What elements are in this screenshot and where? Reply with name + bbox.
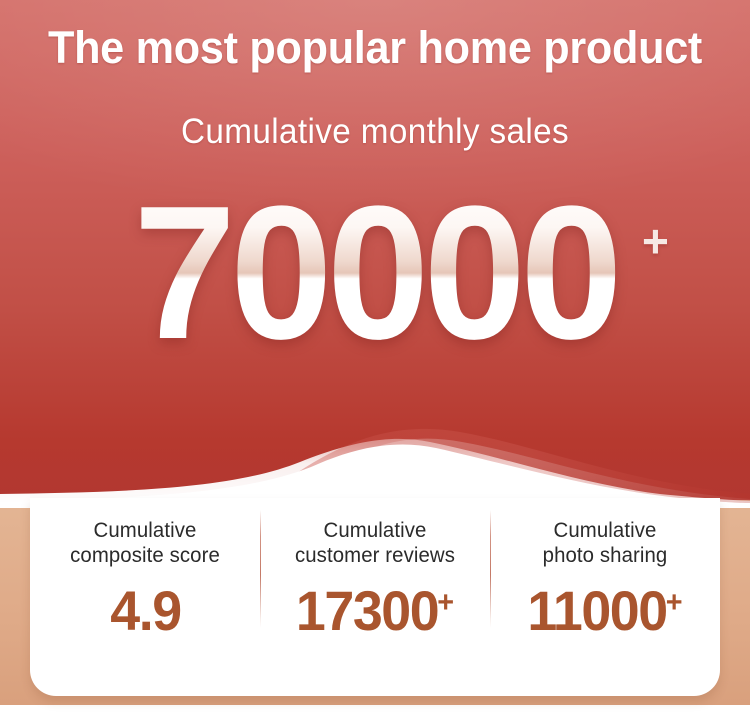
promo-poster: The most popular home product Cumulative… [0, 0, 750, 718]
stat-customer-reviews: Cumulative customer reviews 17300+ [260, 498, 490, 640]
stat-value-suffix: + [666, 586, 683, 619]
stat-value: 4.9 [35, 574, 256, 640]
hero-metric: 70000 [0, 178, 750, 368]
stat-value-number: 4.9 [110, 579, 180, 642]
stat-label-line2: customer reviews [295, 544, 455, 567]
stat-photo-sharing: Cumulative photo sharing 11000+ [490, 498, 720, 640]
stat-value-number: 11000 [527, 579, 666, 642]
stat-value: 17300+ [265, 574, 486, 640]
stat-value-suffix: + [437, 586, 454, 619]
hero-subtitle: Cumulative monthly sales [19, 112, 732, 152]
hero-metric-plus-suffix: + [642, 218, 669, 264]
stat-label-line1: Cumulative [324, 519, 427, 542]
stat-label-line1: Cumulative [554, 519, 657, 542]
stat-label: Cumulative photo sharing [493, 518, 716, 568]
stat-value-number: 17300 [296, 579, 438, 642]
stat-label-line2: photo sharing [543, 544, 668, 567]
page-title: The most popular home product [15, 22, 735, 74]
stat-label: Cumulative customer reviews [263, 518, 486, 568]
stat-composite-score: Cumulative composite score 4.9 [30, 498, 260, 640]
stat-label: Cumulative composite score [33, 518, 256, 568]
stat-label-line1: Cumulative [94, 519, 197, 542]
stats-row: Cumulative composite score 4.9 Cumulativ… [30, 498, 720, 650]
wave-divider-graphic [0, 398, 750, 508]
stat-label-line2: composite score [70, 544, 220, 567]
stat-value: 11000+ [495, 574, 716, 640]
stats-card: Cumulative composite score 4.9 Cumulativ… [30, 498, 720, 696]
hero-metric-value: 70000 [133, 178, 616, 368]
